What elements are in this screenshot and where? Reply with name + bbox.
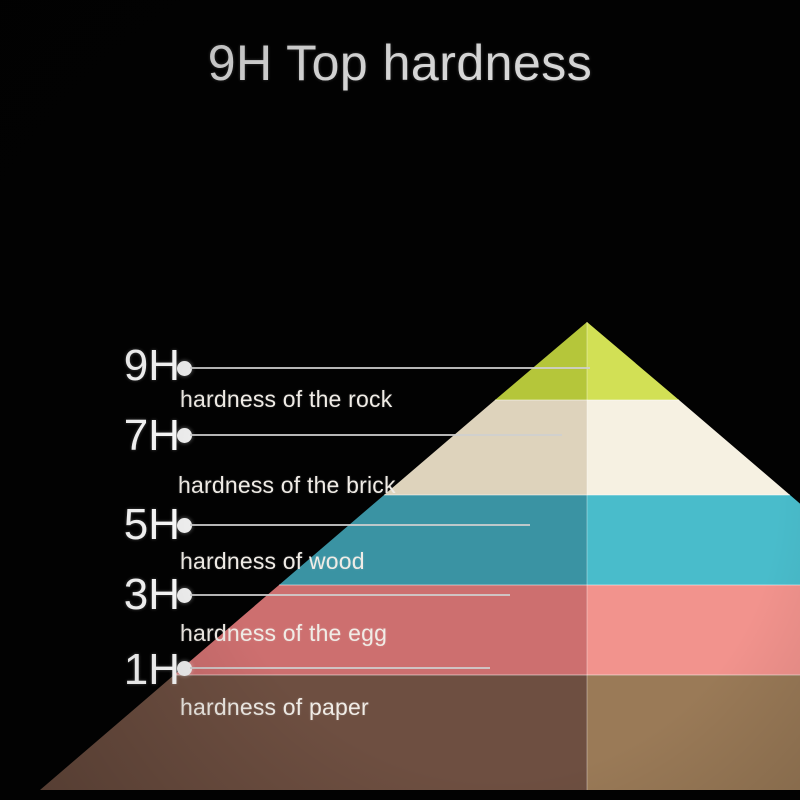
pyramid-layer-paper-left-face (40, 675, 587, 790)
grade-label-3h: 3H (70, 573, 180, 617)
leader-line-1h (190, 667, 490, 669)
callout-description-7h: hardness of the brick (178, 474, 396, 497)
pyramid-layer-brick-right-face (587, 400, 790, 495)
callout-description-3h: hardness of the egg (180, 622, 387, 645)
pyramid-layer-brick-left-face (384, 400, 587, 495)
grade-label-9h: 9H (70, 344, 180, 388)
pyramid-layer-wood-right-face (587, 495, 800, 585)
hardness-pyramid-infographic: 9H Top hardness 9Hhardness of the rock7H… (0, 0, 800, 800)
grade-label-5h: 5H (70, 503, 180, 547)
page-title: 9H Top hardness (0, 38, 800, 88)
grade-label-7h: 7H (70, 414, 180, 458)
callout-description-5h: hardness of wood (180, 550, 365, 573)
pyramid-layer-rock-left-face (495, 322, 587, 400)
pyramid-layer-paper-right-face (587, 675, 800, 790)
leader-line-9h (190, 367, 590, 369)
leader-line-3h (190, 594, 510, 596)
callout-description-1h: hardness of paper (180, 696, 369, 719)
pyramid-layer-rock-right-face (587, 322, 679, 400)
leader-line-7h (190, 434, 562, 436)
leader-line-5h (190, 524, 530, 526)
pyramid-layer-egg-right-face (587, 585, 800, 675)
grade-label-1h: 1H (70, 648, 180, 692)
callout-description-9h: hardness of the rock (180, 388, 392, 411)
